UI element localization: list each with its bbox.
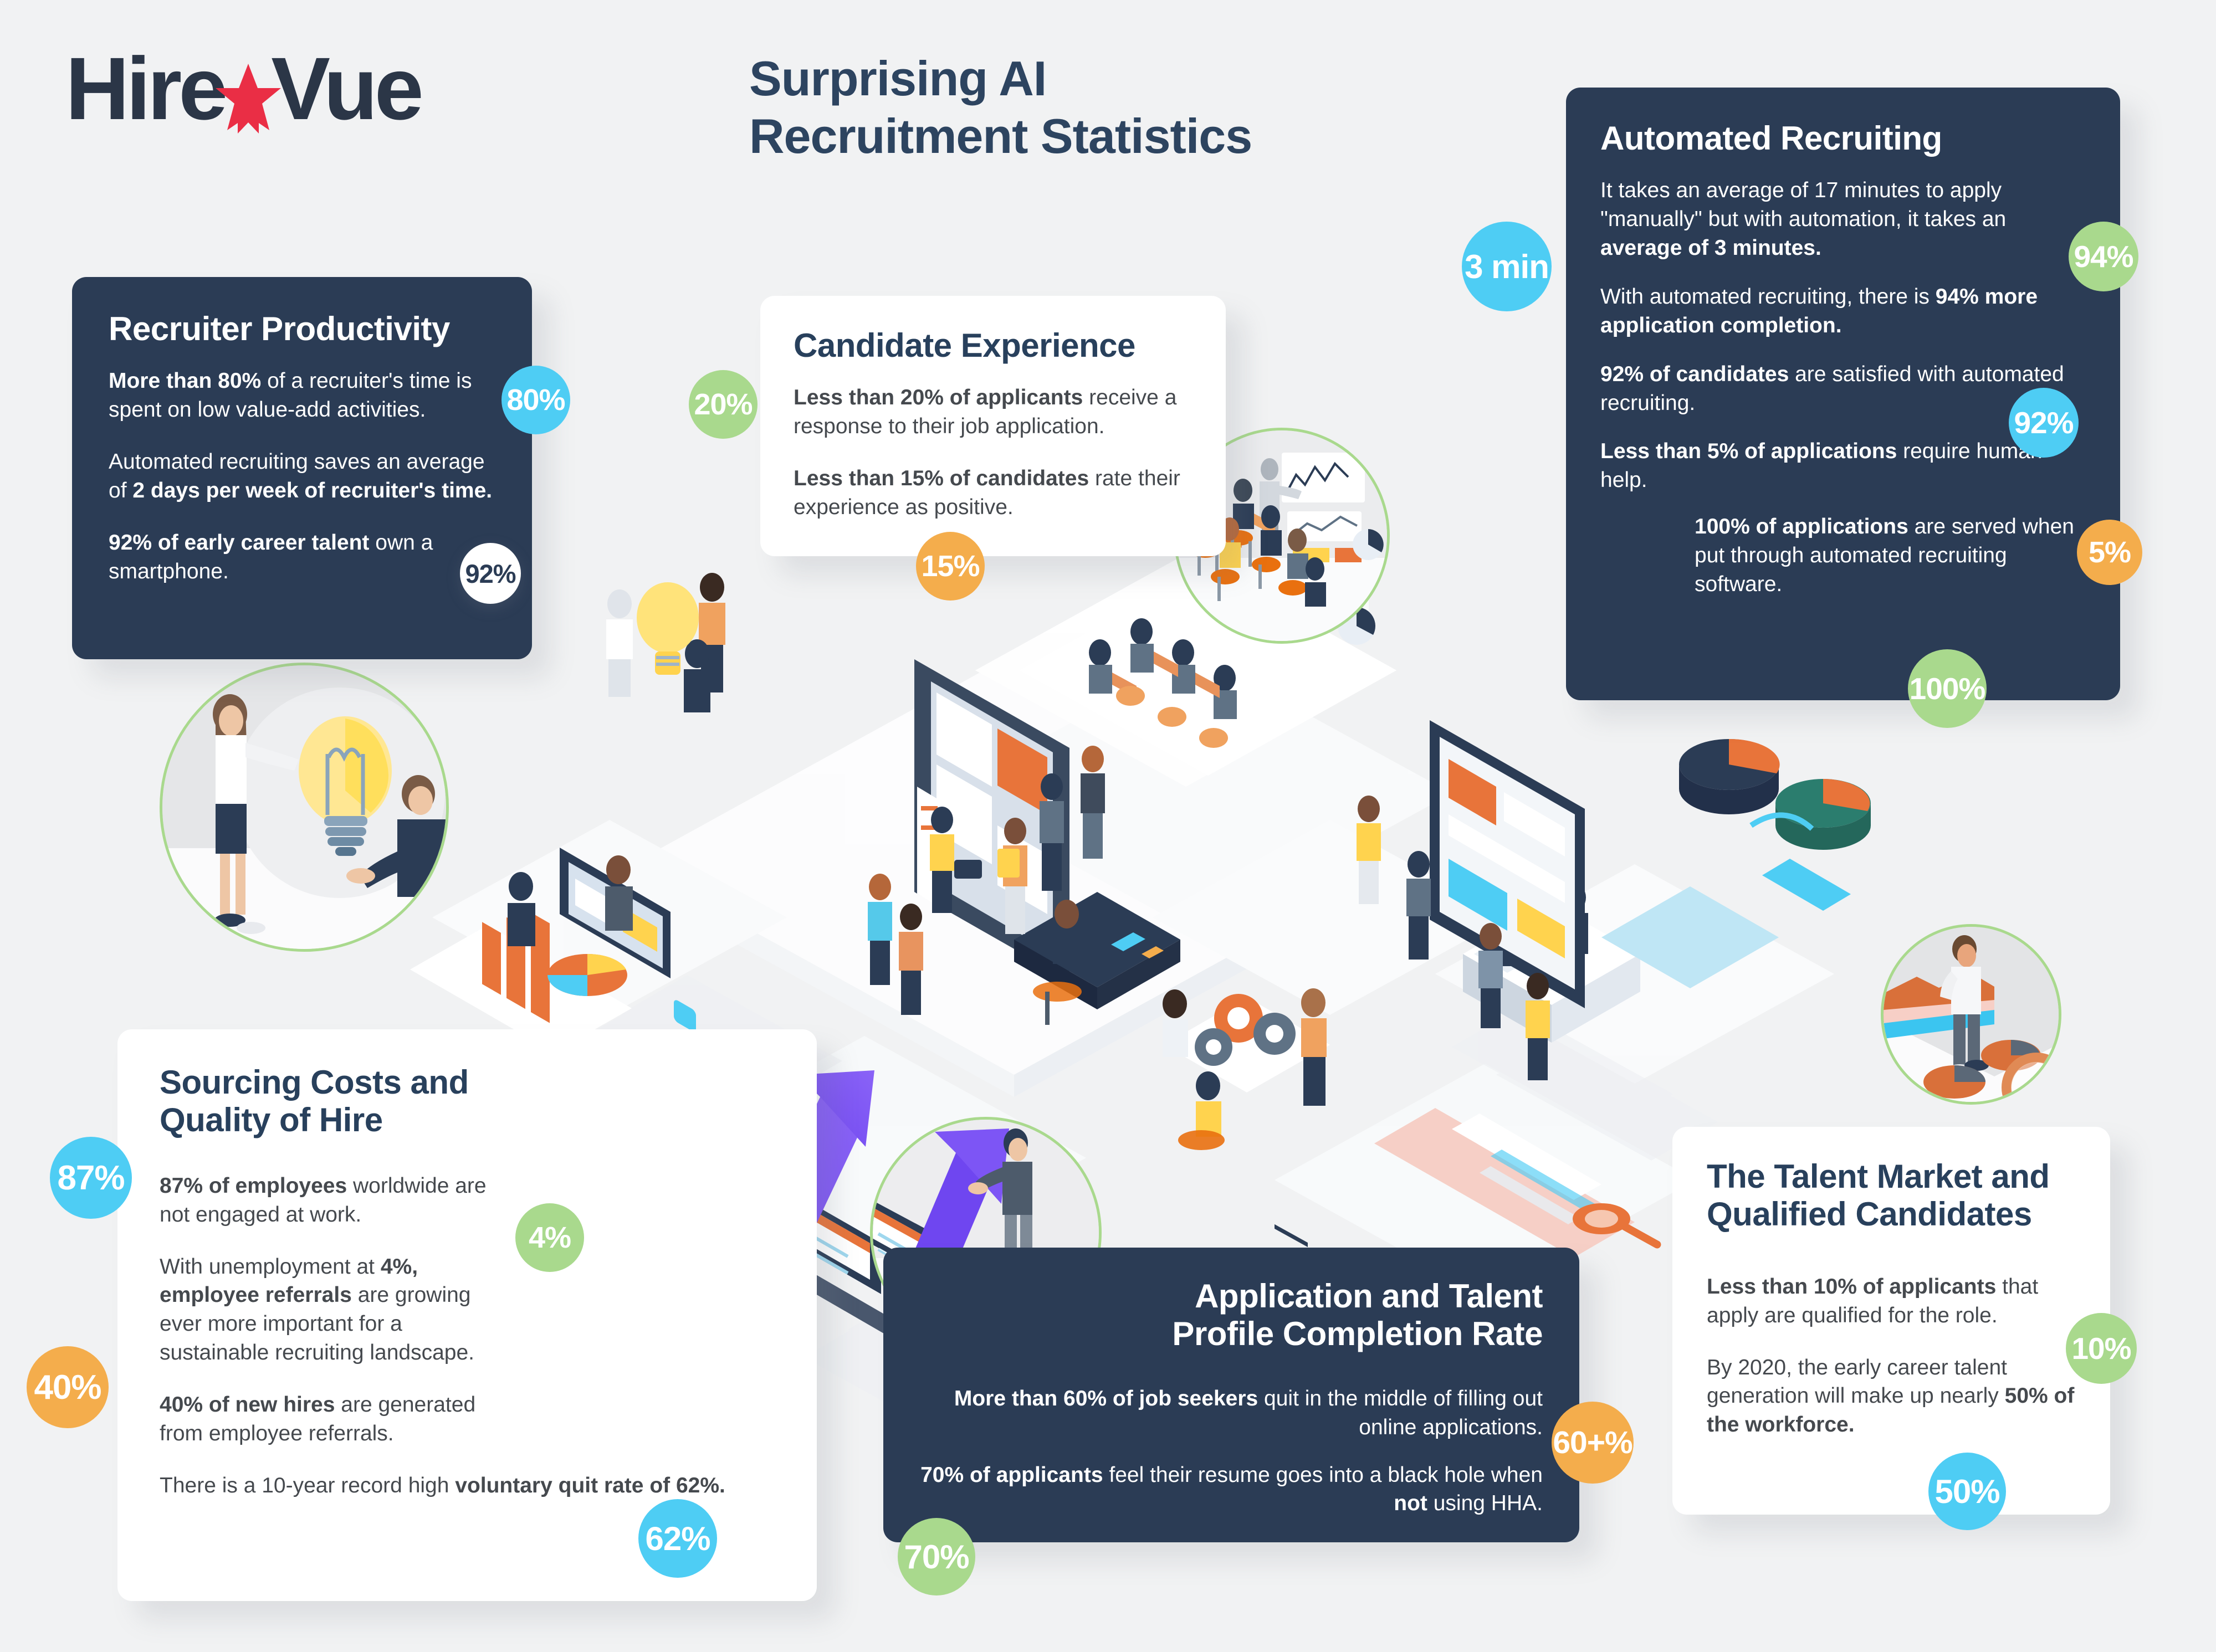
card-paragraph: It takes an average of 17 minutes to app… [1600, 176, 2086, 263]
card-title: The Talent Market and Qualified Candidat… [1707, 1158, 2076, 1234]
badge-20: 20% [689, 370, 758, 439]
card-paragraph: 92% of early career talent own a smartph… [109, 529, 495, 586]
badge-4: 4% [515, 1203, 584, 1272]
card-title: Automated Recruiting [1600, 120, 2086, 157]
card-paragraph: Less than 20% of applicants receive a re… [794, 383, 1193, 441]
logo-text-hire: Hire [65, 44, 224, 133]
badge-40: 40% [27, 1346, 109, 1428]
card-paragraph: 100% of applications are served when put… [1695, 512, 2086, 599]
card-paragraph: More than 60% of job seekers quit in the… [920, 1384, 1543, 1442]
star-icon [216, 56, 281, 121]
card-title-line-1: Sourcing Costs and [160, 1064, 469, 1101]
card-title-line-2: Qualified Candidates [1707, 1196, 2032, 1233]
badge-94: 94% [2069, 222, 2138, 291]
card-paragraph: Less than 15% of candidates rate their e… [794, 464, 1193, 522]
card-title-line-1: The Talent Market and [1707, 1158, 2050, 1195]
spot-illustration-magnifier [1881, 924, 2061, 1105]
card-paragraph: With automated recruiting, there is 94% … [1600, 283, 2086, 340]
card-title: Candidate Experience [794, 327, 1193, 365]
badge-5: 5% [2077, 520, 2142, 585]
badge-80: 80% [501, 366, 570, 434]
card-application-completion: Application and Talent Profile Completio… [883, 1248, 1579, 1542]
card-title-line-1: Application and Talent [1195, 1278, 1543, 1315]
badge-60p: 60+% [1552, 1402, 1634, 1484]
badge-70: 70% [898, 1518, 975, 1595]
card-paragraph: Less than 5% of applications require hum… [1600, 437, 2086, 495]
card-paragraph: 87% of employees worldwide are not engag… [160, 1172, 514, 1229]
badge-50: 50% [1928, 1453, 2006, 1530]
badge-92w: 92% [460, 543, 521, 604]
badge-92: 92% [2009, 388, 2079, 458]
badge-3min: 3 min [1462, 222, 1552, 311]
page-title-line-1: Surprising AI [749, 50, 1252, 107]
card-title-line-2: Profile Completion Rate [1172, 1315, 1543, 1352]
card-title: Application and Talent Profile Completio… [986, 1278, 1543, 1353]
card-talent-market: The Talent Market and Qualified Candidat… [1672, 1127, 2110, 1515]
badge-100: 100% [1908, 649, 1987, 728]
infographic-canvas: ¥ $ € [0, 0, 2216, 1652]
badge-15: 15% [916, 532, 985, 601]
card-paragraph: 70% of applicants feel their resume goes… [920, 1461, 1543, 1518]
logo-text-vue: Vue [271, 44, 421, 133]
card-paragraph: 40% of new hires are generated from empl… [160, 1391, 514, 1448]
card-sourcing-costs: Sourcing Costs and Quality of Hire 87% o… [117, 1029, 817, 1601]
card-title-line-2: Quality of Hire [160, 1101, 383, 1138]
badge-87: 87% [50, 1137, 132, 1219]
badge-62: 62% [638, 1499, 717, 1578]
card-paragraph: Automated recruiting saves an average of… [109, 448, 495, 505]
card-paragraph: Less than 10% of applicants that apply a… [1707, 1273, 2076, 1330]
spot-illustration-lightbulb [160, 663, 449, 952]
card-candidate-experience: Candidate Experience Less than 20% of ap… [760, 296, 1226, 556]
card-paragraph: With unemployment at 4%, employee referr… [160, 1253, 514, 1367]
hirevue-logo: Hire Vue [65, 44, 421, 133]
card-title: Sourcing Costs and Quality of Hire [160, 1064, 775, 1140]
page-title: Surprising AI Recruitment Statistics [749, 50, 1252, 165]
badge-10: 10% [2066, 1313, 2137, 1384]
page-title-line-2: Recruitment Statistics [749, 107, 1252, 165]
card-recruiter-productivity: Recruiter Productivity More than 80% of … [72, 277, 532, 659]
card-paragraph: By 2020, the early career talent generat… [1707, 1353, 2076, 1440]
card-paragraph: More than 80% of a recruiter's time is s… [109, 367, 495, 424]
card-title: Recruiter Productivity [109, 310, 495, 348]
card-paragraph: There is a 10-year record high voluntary… [160, 1471, 775, 1500]
